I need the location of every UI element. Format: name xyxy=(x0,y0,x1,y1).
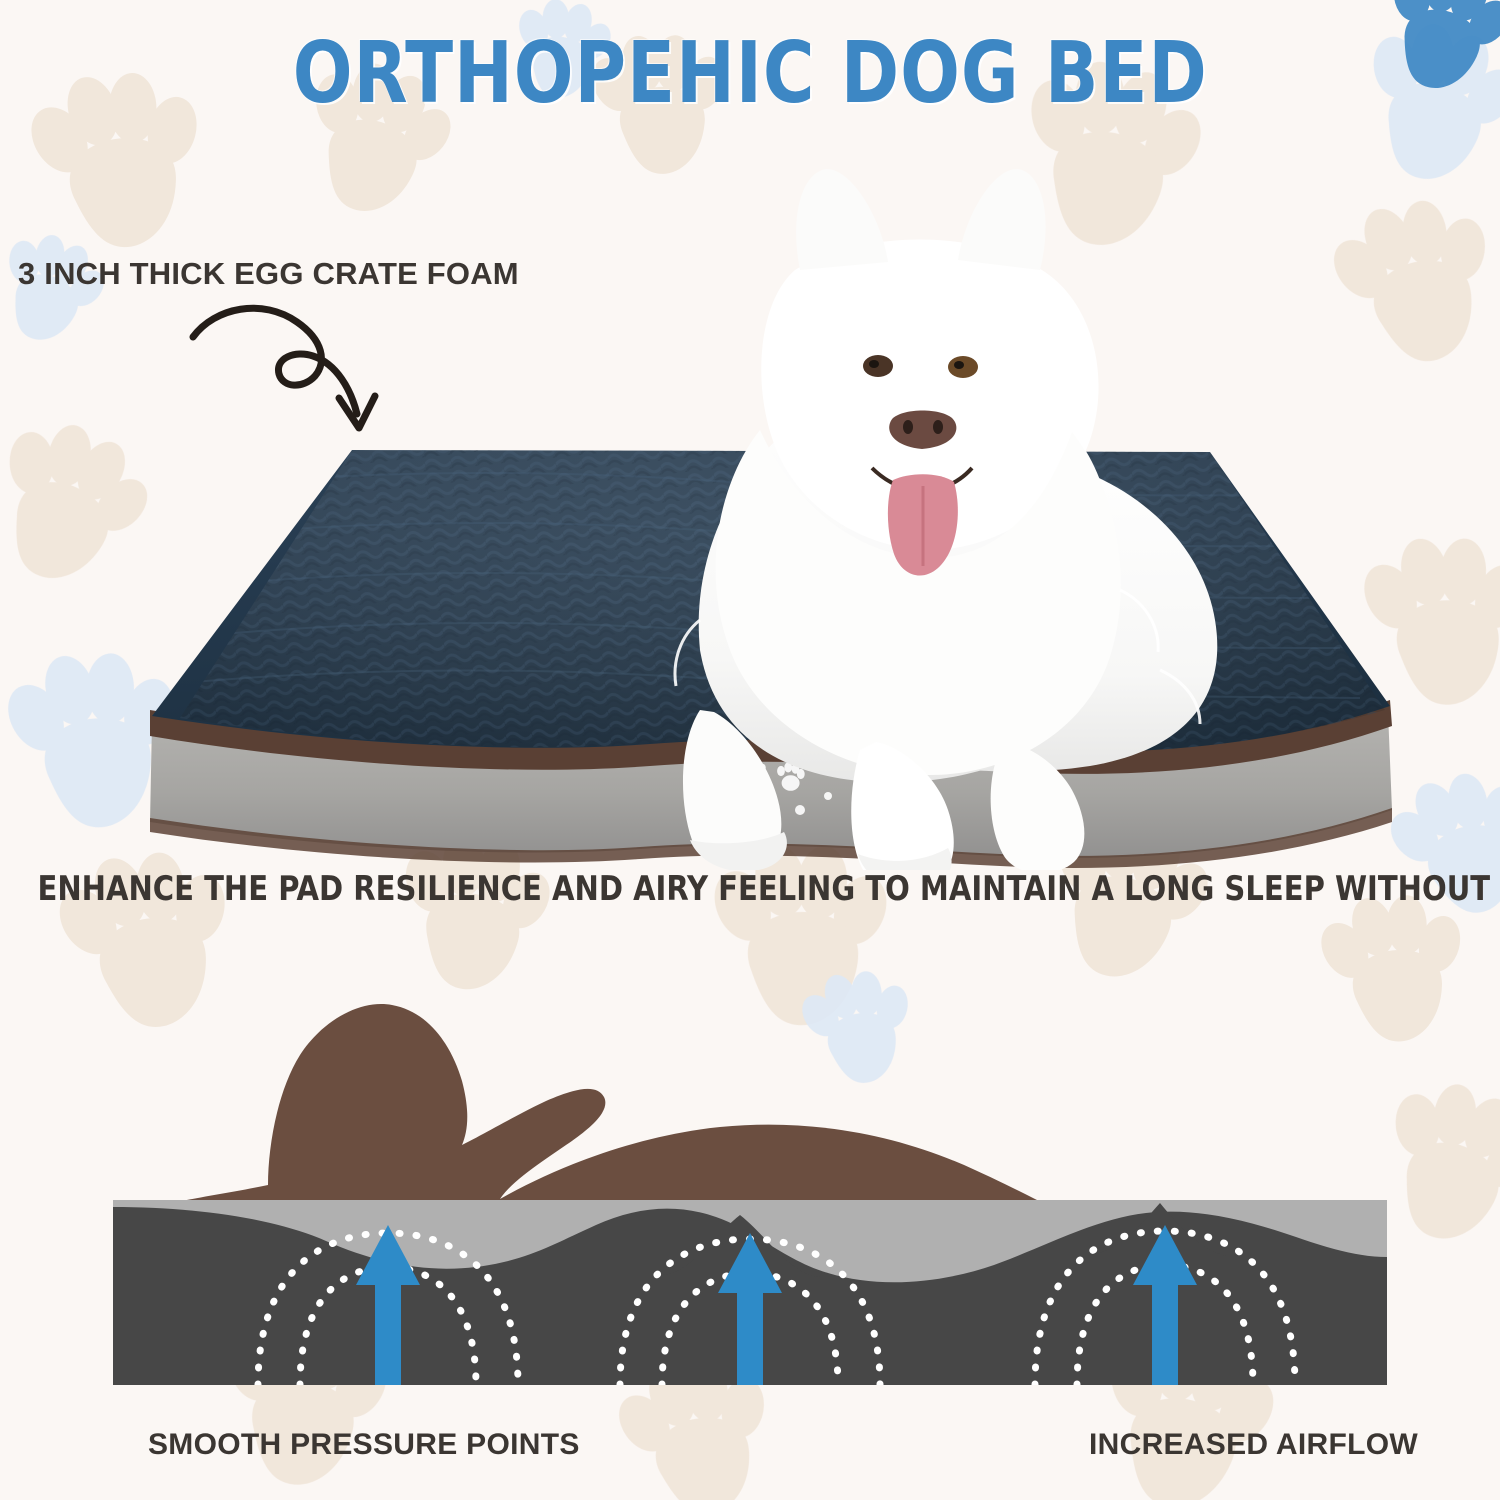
page-title: ORTHOPEHIC DOG BED xyxy=(293,24,1208,123)
label-increased-airflow: INCREASED AIRFLOW xyxy=(1089,1428,1418,1462)
foam-cross-section-diagram xyxy=(0,985,1500,1385)
curved-loop-arrow-icon xyxy=(185,292,400,452)
title-band: ORTHOPEHIC DOG BED xyxy=(0,18,1500,128)
foam-callout-label: 3 INCH THICK EGG CRATE FOAM xyxy=(18,256,519,292)
resilience-caption: ENHANCE THE PAD RESILIENCE AND AIRY FEEL… xyxy=(38,869,1463,909)
label-smooth-pressure-points: SMOOTH PRESSURE POINTS xyxy=(148,1428,580,1462)
